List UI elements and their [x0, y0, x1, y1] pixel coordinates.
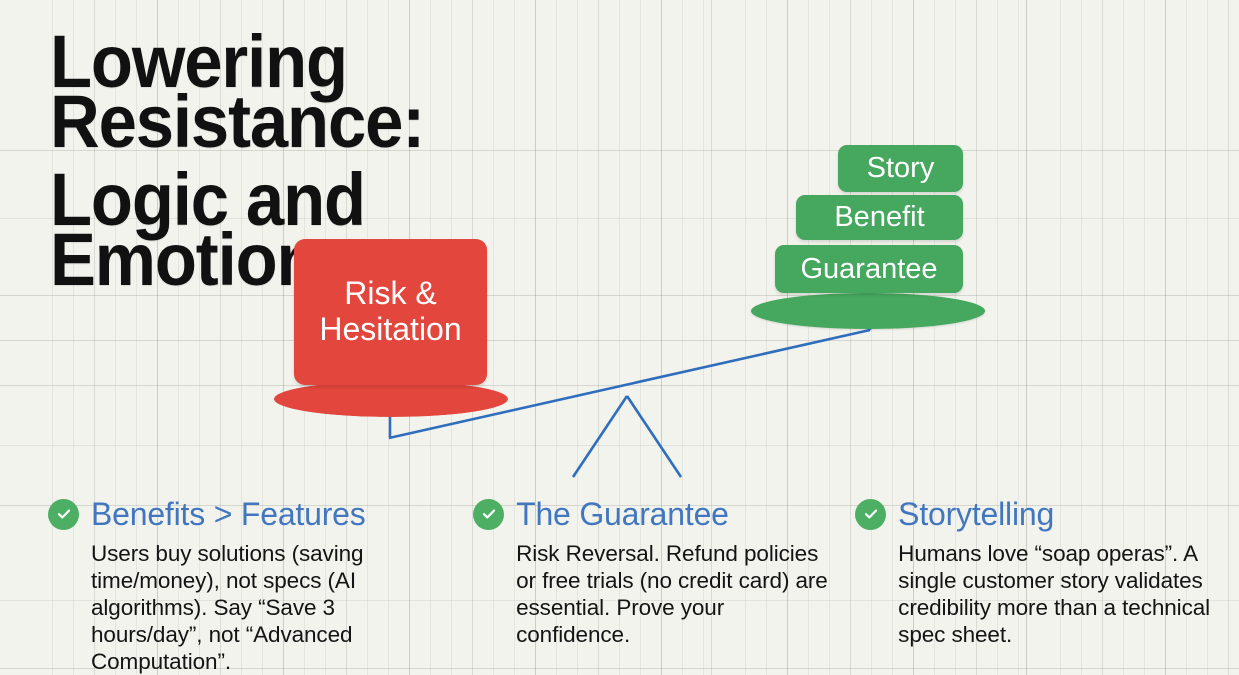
- weight-story: Story: [838, 145, 963, 192]
- scale-pan-left: [274, 381, 508, 417]
- page-title-line-2: Logic and Emotion: [50, 152, 645, 290]
- check-circle-icon: [855, 499, 886, 530]
- page-title-line-1: Lowering Resistance:: [50, 14, 645, 152]
- column-1-title: Benefits > Features: [91, 498, 366, 530]
- column-2-title: The Guarantee: [516, 498, 729, 530]
- scale-fulcrum-leg-left: [573, 396, 627, 477]
- bottom-columns: Benefits > Features Users buy solutions …: [0, 498, 1239, 675]
- scale-fulcrum-leg-right: [627, 396, 681, 477]
- column-3-body: Humans love “soap operas”. A single cust…: [898, 540, 1225, 648]
- column-1-header: Benefits > Features: [48, 498, 451, 530]
- slide-canvas: Lowering Resistance: Logic and Emotion R…: [0, 0, 1239, 675]
- column-3-header: Storytelling: [855, 498, 1225, 530]
- column-storytelling: Storytelling Humans love “soap operas”. …: [847, 498, 1239, 675]
- scale-beam: [389, 330, 870, 438]
- column-2-body: Risk Reversal. Refund policies or free t…: [516, 540, 833, 648]
- column-benefits-features: Benefits > Features Users buy solutions …: [0, 498, 465, 675]
- page-title: Lowering Resistance: Logic and Emotion: [50, 14, 645, 290]
- column-2-header: The Guarantee: [473, 498, 833, 530]
- column-1-body: Users buy solutions (saving time/money),…: [91, 540, 451, 675]
- weight-guarantee: Guarantee: [775, 245, 963, 293]
- column-the-guarantee: The Guarantee Risk Reversal. Refund poli…: [465, 498, 847, 675]
- column-3-title: Storytelling: [898, 498, 1054, 530]
- weight-benefit: Benefit: [796, 195, 963, 240]
- weight-risk-line-2: Hesitation: [319, 312, 461, 348]
- check-circle-icon: [473, 499, 504, 530]
- check-circle-icon: [48, 499, 79, 530]
- scale-pan-right: [751, 293, 985, 329]
